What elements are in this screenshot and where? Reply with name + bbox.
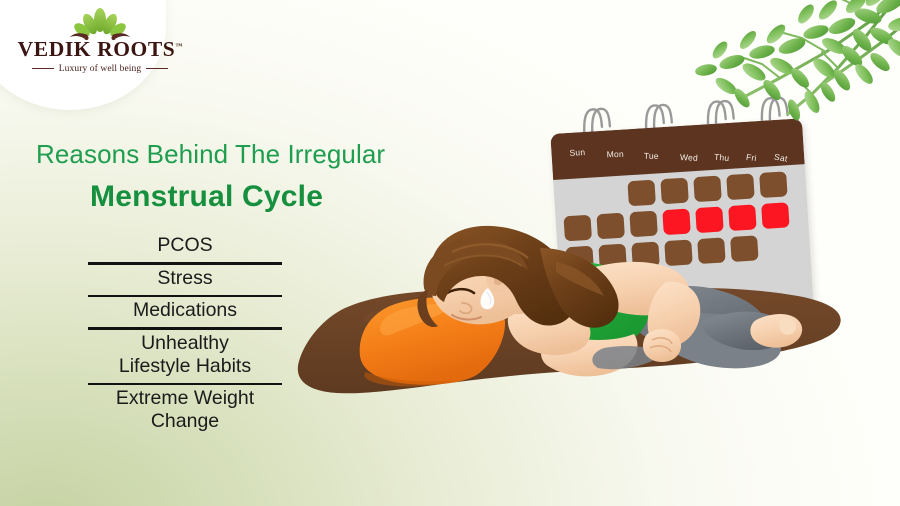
headline: Reasons Behind The Irregular Menstrual C… — [36, 140, 385, 214]
brand-name-text: VEDIK ROOTS — [18, 37, 176, 61]
reasons-list: PCOSStressMedicationsUnhealthyLifestyle … — [88, 232, 282, 438]
brand-logo[interactable]: VEDIK ROOTS™ Luxury of well being — [14, 8, 186, 94]
brand-name: VEDIK ROOTS™ — [14, 39, 186, 61]
reason-item: Extreme WeightChange — [88, 385, 282, 438]
head — [417, 226, 618, 328]
brand-tagline: Luxury of well being — [59, 64, 141, 74]
tagline-rule-left — [32, 68, 54, 69]
reason-item: UnhealthyLifestyle Habits — [88, 330, 282, 383]
reason-item: Stress — [88, 265, 282, 295]
headline-line-2: Menstrual Cycle — [90, 180, 385, 215]
trademark-symbol: ™ — [175, 42, 182, 50]
poster-canvas: SunMonTueWedThuFriSat — [0, 0, 900, 506]
tagline-rule-right — [146, 68, 168, 69]
reason-item: PCOS — [88, 232, 282, 262]
reason-item: Medications — [88, 297, 282, 327]
headline-line-1: Reasons Behind The Irregular — [36, 140, 385, 169]
brand-tagline-row: Luxury of well being — [14, 64, 186, 74]
leaf-branch-icon — [676, 0, 900, 130]
